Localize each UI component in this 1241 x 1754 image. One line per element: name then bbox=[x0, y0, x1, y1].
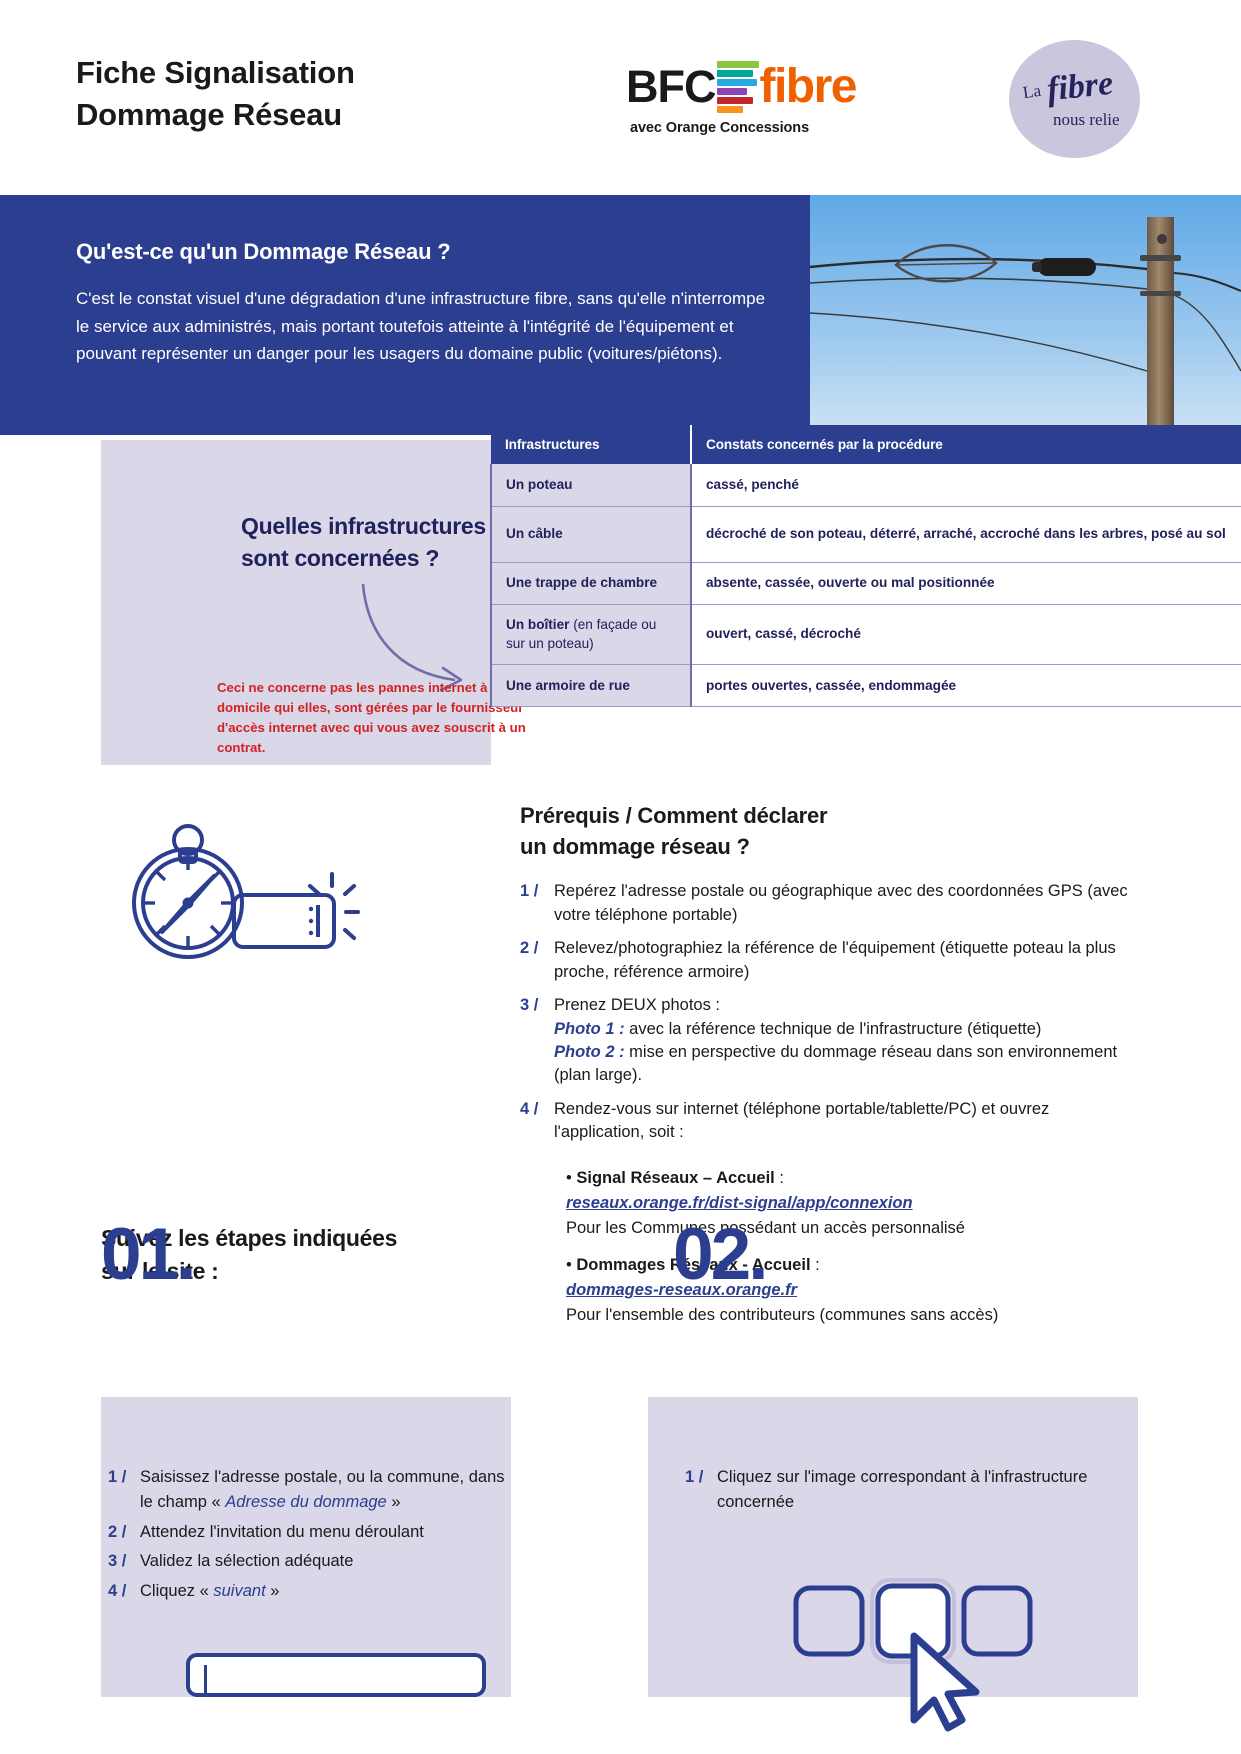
infrastructures-left-panel: Quelles infrastructures sont concernées … bbox=[101, 440, 491, 765]
step01-item1-post: » bbox=[387, 1493, 401, 1511]
prerequis-section: Prérequis / Comment déclarer un dommage … bbox=[520, 800, 1140, 1342]
pole-photo-svg bbox=[810, 195, 1241, 435]
prerequis-heading-line2: un dommage réseau ? bbox=[520, 834, 750, 859]
prerequis-step-4: 4 / Rendez-vous sur internet (téléphone … bbox=[520, 1098, 1140, 1145]
page-title-line1: Fiche Signalisation bbox=[76, 55, 355, 90]
cell-infra-cable: Un câble bbox=[491, 506, 691, 562]
bfc-colorbars-icon bbox=[717, 61, 759, 113]
step01-item4-pre: Cliquez « bbox=[140, 1582, 213, 1600]
list-item: 1 / Cliquez sur l'image correspondant à … bbox=[685, 1465, 1105, 1515]
link-url-dommages-reseaux[interactable]: dommages-reseaux.orange.fr bbox=[566, 1279, 1140, 1303]
step-1-text: Repérez l'adresse postale ou géographiqu… bbox=[554, 880, 1140, 927]
cell-constat-boitier: ouvert, cassé, décroché bbox=[691, 604, 1241, 664]
step-3-body: Prenez DEUX photos : Photo 1 : avec la r… bbox=[554, 994, 1140, 1088]
step-2-number: 2 / bbox=[520, 937, 554, 984]
page-title-line2: Dommage Réseau bbox=[76, 94, 546, 136]
table-row: Un boîtier (en façade ou sur un poteau) … bbox=[491, 604, 1241, 664]
step-1-number: 1 / bbox=[520, 880, 554, 927]
bfc-fibre-logo: BFC fibre avec Orange Concessions bbox=[626, 60, 906, 140]
adresse-du-dommage-input[interactable] bbox=[186, 1653, 486, 1697]
step-01-list: 1 / Saisissez l'adresse postale, ou la c… bbox=[108, 1465, 508, 1609]
step01-item4-em: suivant bbox=[213, 1582, 265, 1600]
step-3-photo1-text: avec la référence technique de l'infrast… bbox=[625, 1020, 1042, 1038]
text-caret-icon bbox=[204, 1665, 207, 1693]
step-2-text: Relevez/photographiez la référence de l'… bbox=[554, 937, 1140, 984]
pole-photo bbox=[810, 195, 1241, 435]
step01-item4-text: Cliquez « suivant » bbox=[140, 1579, 508, 1604]
cell-infra-trappe: Une trappe de chambre bbox=[491, 562, 691, 604]
step-4-text: Rendez-vous sur internet (téléphone port… bbox=[554, 1098, 1140, 1145]
step01-item1-text: Saisissez l'adresse postale, ou la commu… bbox=[140, 1465, 508, 1515]
infrastructures-question-line1: Quelles infrastructures bbox=[241, 513, 486, 539]
cell-constat-trappe: absente, cassée, ouverte ou mal position… bbox=[691, 562, 1241, 604]
infrastructures-section: Quelles infrastructures sont concernées … bbox=[0, 435, 1241, 770]
intro-band: Qu'est-ce qu'un Dommage Réseau ? C'est l… bbox=[0, 195, 1241, 435]
bfc-logo-row: BFC fibre bbox=[626, 60, 906, 114]
intro-blue-panel: Qu'est-ce qu'un Dommage Réseau ? C'est l… bbox=[0, 195, 810, 435]
step01-item2-text: Attendez l'invitation du menu déroulant bbox=[140, 1520, 508, 1545]
link-note-dommages-reseaux: Pour l'ensemble des contributeurs (commu… bbox=[566, 1306, 998, 1324]
link-colon-1: : bbox=[775, 1169, 784, 1187]
link-item-dommages-reseaux: • Dommages Réseaux - Accueil : dommages-… bbox=[566, 1254, 1140, 1328]
badge-fibre-text: fibre bbox=[1045, 65, 1115, 110]
step-4-number: 4 / bbox=[520, 1098, 554, 1145]
step01-item4-post: » bbox=[266, 1582, 280, 1600]
step-3-number: 3 / bbox=[520, 994, 554, 1088]
compass-icon bbox=[134, 826, 242, 957]
step-3-photo2-text: mise en perspective du dommage réseau da… bbox=[554, 1043, 1117, 1084]
page-title: Fiche Signalisation Dommage Réseau bbox=[76, 52, 546, 136]
list-item: 1 / Saisissez l'adresse postale, ou la c… bbox=[108, 1465, 508, 1515]
prerequis-step-3: 3 / Prenez DEUX photos : Photo 1 : avec … bbox=[520, 994, 1140, 1088]
infrastructures-table: Infrastructures Constats concernés par l… bbox=[490, 425, 1241, 707]
step-01-number: 01. bbox=[101, 1218, 193, 1291]
step01-item3-number: 3 / bbox=[108, 1549, 140, 1574]
step02-item1-text: Cliquez sur l'image correspondant à l'in… bbox=[717, 1465, 1105, 1515]
infrastructures-table-body: Un poteau cassé, penché Un câble décroch… bbox=[491, 464, 1241, 706]
infrastructures-table-head: Infrastructures Constats concernés par l… bbox=[491, 425, 1241, 464]
cell-infra-boitier-main: Un boîtier bbox=[506, 617, 569, 632]
prerequis-step-1: 1 / Repérez l'adresse postale ou géograp… bbox=[520, 880, 1140, 927]
intro-paragraph: C'est le constat visuel d'une dégradatio… bbox=[76, 285, 766, 368]
step-3-text: Prenez DEUX photos : bbox=[554, 996, 720, 1014]
bfc-logo-fibre-text: fibre bbox=[759, 62, 856, 112]
prerequis-step-2: 2 / Relevez/photographiez la référence d… bbox=[520, 937, 1140, 984]
cell-constat-cable: décroché de son poteau, déterré, arraché… bbox=[691, 506, 1241, 562]
step01-item3-text: Validez la sélection adéquate bbox=[140, 1549, 508, 1574]
infrastructure-choice-illustration bbox=[786, 1570, 1106, 1754]
step01-item1-em: Adresse du dommage bbox=[225, 1493, 386, 1511]
table-row: Un câble décroché de son poteau, déterré… bbox=[491, 506, 1241, 562]
link-item-signal-reseaux: • Signal Réseaux – Accueil : reseaux.ora… bbox=[566, 1167, 1140, 1241]
prerequis-links: • Signal Réseaux – Accueil : reseaux.ora… bbox=[566, 1167, 1140, 1329]
table-header-row: Infrastructures Constats concernés par l… bbox=[491, 425, 1241, 464]
link-url-signal-reseaux[interactable]: reseaux.orange.fr/dist-signal/app/connex… bbox=[566, 1192, 1140, 1216]
bullet-marker-2: • bbox=[566, 1256, 572, 1274]
step02-item1-number: 1 / bbox=[685, 1465, 717, 1515]
phone-icon bbox=[234, 895, 334, 947]
table-row: Une armoire de rue portes ouvertes, cass… bbox=[491, 664, 1241, 706]
step01-item2-number: 2 / bbox=[108, 1520, 140, 1545]
badge-la-text: La bbox=[1022, 81, 1043, 103]
compass-phone-illustration bbox=[126, 810, 376, 990]
table-row: Une trappe de chambre absente, cassée, o… bbox=[491, 562, 1241, 604]
table-header-infrastructures: Infrastructures bbox=[491, 425, 691, 464]
badge-nous-relie-text: nous relie bbox=[1053, 110, 1120, 130]
page-header: Fiche Signalisation Dommage Réseau BFC f… bbox=[0, 0, 1241, 195]
cell-constat-armoire: portes ouvertes, cassée, endommagée bbox=[691, 664, 1241, 706]
cell-infra-armoire: Une armoire de rue bbox=[491, 664, 691, 706]
step-3-photo2-label: Photo 2 : bbox=[554, 1043, 625, 1061]
prerequis-heading-line1: Prérequis / Comment déclarer bbox=[520, 803, 827, 828]
choice-tile-left[interactable] bbox=[796, 1588, 862, 1654]
la-fibre-nous-relie-badge: La fibre nous relie bbox=[1009, 40, 1140, 158]
infrastructures-question-line2: sont concernées ? bbox=[241, 545, 439, 571]
intro-heading: Qu'est-ce qu'un Dommage Réseau ? bbox=[76, 239, 450, 265]
fiche-signalisation-page: Fiche Signalisation Dommage Réseau BFC f… bbox=[0, 0, 1241, 1754]
bfc-logo-text: BFC bbox=[626, 62, 715, 112]
step-02-list: 1 / Cliquez sur l'image correspondant à … bbox=[685, 1465, 1105, 1520]
bfc-logo-subtitle: avec Orange Concessions bbox=[630, 120, 906, 136]
list-item: 3 / Validez la sélection adéquate bbox=[108, 1549, 508, 1574]
choice-tile-right[interactable] bbox=[964, 1588, 1030, 1654]
list-item: 2 / Attendez l'invitation du menu déroul… bbox=[108, 1520, 508, 1545]
link-note-signal-reseaux: Pour les Communes possédant un accès per… bbox=[566, 1219, 965, 1237]
bullet-marker-1: • bbox=[566, 1169, 572, 1187]
prerequis-heading: Prérequis / Comment déclarer un dommage … bbox=[520, 800, 1140, 862]
step01-item4-number: 4 / bbox=[108, 1579, 140, 1604]
link-heading-signal-reseaux: Signal Réseaux – Accueil bbox=[576, 1169, 774, 1187]
cell-infra-boitier: Un boîtier (en façade ou sur un poteau) bbox=[491, 604, 691, 664]
step-3-photo1-label: Photo 1 : bbox=[554, 1020, 625, 1038]
step01-item1-number: 1 / bbox=[108, 1465, 140, 1515]
step-02-number: 02. bbox=[673, 1218, 765, 1291]
table-header-constats: Constats concernés par la procédure bbox=[691, 425, 1241, 464]
list-item: 4 / Cliquez « suivant » bbox=[108, 1579, 508, 1604]
cell-infra-poteau: Un poteau bbox=[491, 464, 691, 506]
table-row: Un poteau cassé, penché bbox=[491, 464, 1241, 506]
link-colon-2: : bbox=[811, 1256, 820, 1274]
cell-constat-poteau: cassé, penché bbox=[691, 464, 1241, 506]
